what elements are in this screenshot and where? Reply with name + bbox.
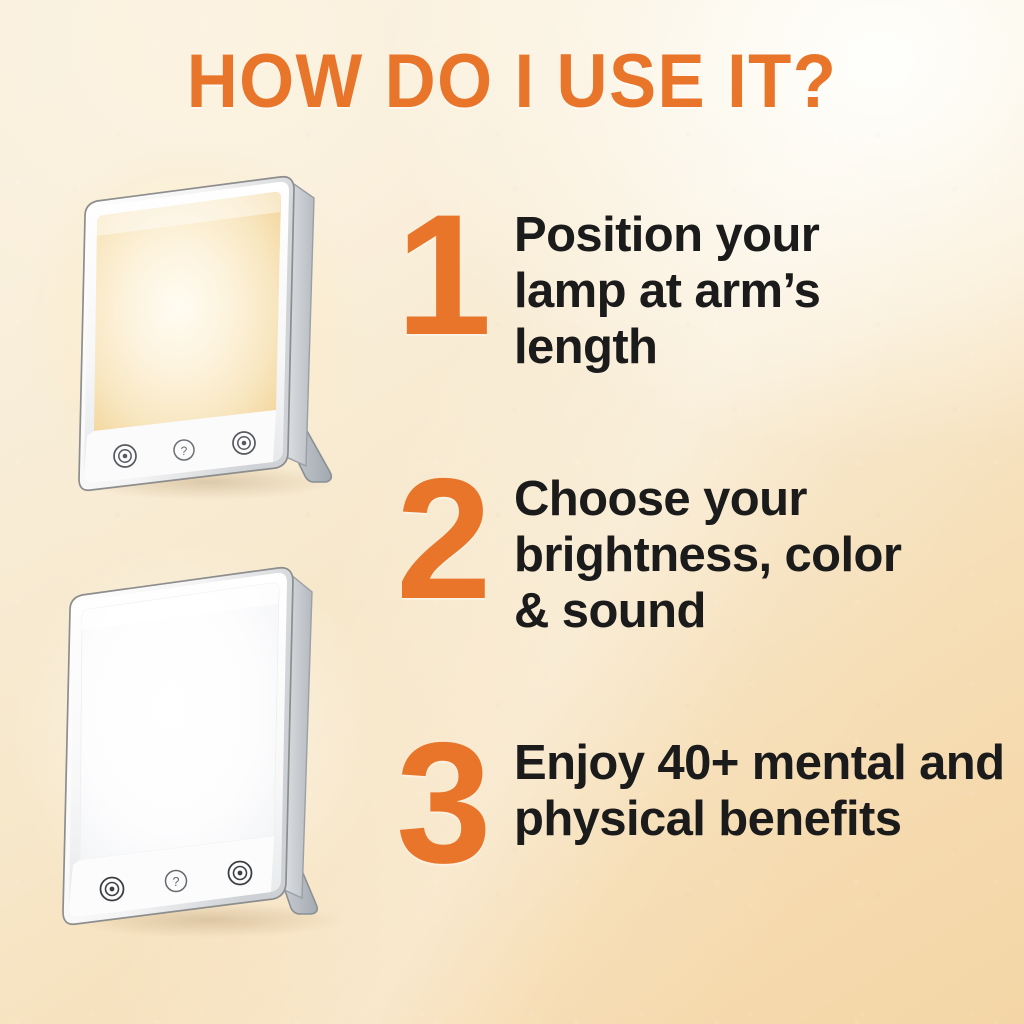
step-number-1: 1	[396, 196, 514, 354]
step-text-1: Position your lamp at arm’s length	[514, 196, 934, 376]
step-text-2: Choose your brightness, color & sound	[514, 460, 934, 640]
step-number-2: 2	[396, 460, 514, 618]
lamp-illustration-warm: ?	[52, 160, 382, 505]
lamp-illustration-cool: ?	[44, 548, 384, 948]
step-number-3: 3	[396, 724, 514, 882]
step-item-3: 3 Enjoy 40+ mental and physical benefits	[396, 724, 1014, 882]
step-text-3: Enjoy 40+ mental and physical benefits	[514, 724, 1014, 848]
step-item-1: 1 Position your lamp at arm’s length	[396, 196, 934, 376]
poster-canvas: HOW DO I USE IT?	[0, 0, 1024, 1024]
svg-text:?: ?	[173, 875, 180, 889]
page-title: HOW DO I USE IT?	[36, 44, 988, 120]
step-item-2: 2 Choose your brightness, color & sound	[396, 460, 934, 640]
svg-text:?: ?	[181, 444, 188, 458]
